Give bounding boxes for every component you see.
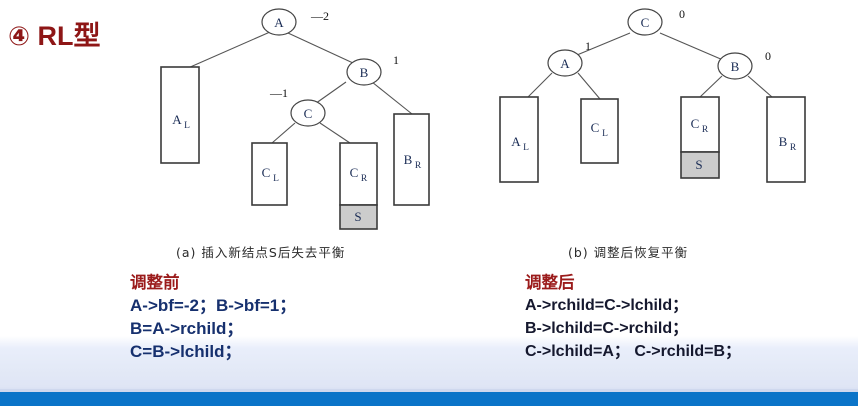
subtree-sub-AL-b: L bbox=[523, 143, 529, 153]
figure-b-caption: (b) 调整后恢复平衡 bbox=[568, 242, 688, 261]
code-after-line-3: C->lchild=A； C->rchild=B； bbox=[525, 340, 741, 363]
subtree-sub-CL-b: L bbox=[602, 129, 608, 139]
bottom-accent-bar bbox=[0, 392, 858, 406]
subtree-label-AL-b: A bbox=[511, 134, 521, 149]
subtree-label-CL-b: C bbox=[591, 120, 600, 135]
node-label-C-a: C bbox=[304, 106, 313, 121]
inserted-node-label-S-b: S bbox=[695, 157, 702, 172]
bf-label-A-a: —2 bbox=[310, 9, 329, 23]
code-before-line-1: A->bf=-2；B->bf=1； bbox=[130, 294, 296, 317]
inserted-node-label-S-a: S bbox=[354, 209, 361, 224]
bf-label-A-b: 1 bbox=[585, 39, 591, 53]
code-after-line-2: B->lchild=C->rchild； bbox=[525, 317, 741, 340]
node-label-C-b: C bbox=[641, 15, 650, 30]
code-after-heading: 调整后 bbox=[525, 274, 741, 293]
bf-label-B-b: 0 bbox=[765, 49, 771, 63]
subtree-box-CL-b bbox=[581, 99, 618, 163]
bf-label-C-b: 0 bbox=[679, 7, 685, 21]
code-after-line-1: A->rchild=C->lchild； bbox=[525, 294, 741, 317]
bf-label-C-a: —1 bbox=[269, 86, 288, 100]
subtree-sub-CR-b: R bbox=[702, 125, 709, 135]
code-block-after: 调整后 A->rchild=C->lchild； B->lchild=C->rc… bbox=[525, 274, 741, 363]
node-label-B-a: B bbox=[360, 65, 369, 80]
figure-a-tree: A L C L C R S B R A —2 B 1 C —1 bbox=[161, 9, 429, 229]
node-label-B-b: B bbox=[731, 59, 740, 74]
node-label-A-b: A bbox=[560, 56, 570, 71]
code-block-before: 调整前 A->bf=-2；B->bf=1； B=A->rchild； C=B->… bbox=[130, 274, 296, 363]
code-before-line-3: C=B->lchild； bbox=[130, 340, 296, 363]
subtree-label-BR: B bbox=[404, 152, 413, 167]
subtree-box-CR-b bbox=[681, 97, 719, 152]
slide-root: ④ RL型 .edge{stroke:#555;stroke-width:1.1… bbox=[0, 0, 858, 406]
figure-a-caption: (a) 插入新结点S后失去平衡 bbox=[176, 242, 345, 261]
subtree-sub-CR: R bbox=[361, 174, 368, 184]
subtree-sub-CL: L bbox=[273, 174, 279, 184]
subtree-label-BR-b: B bbox=[779, 134, 788, 149]
subtree-sub-BR-b: R bbox=[790, 143, 797, 153]
code-before-heading: 调整前 bbox=[130, 274, 296, 293]
subtree-label-AL: A bbox=[172, 112, 182, 127]
subtree-label-CL: C bbox=[262, 165, 271, 180]
avl-rl-diagram: .edge{stroke:#555;stroke-width:1.1;fill:… bbox=[0, 0, 858, 270]
subtree-sub-AL: L bbox=[184, 121, 190, 131]
subtree-box-CR bbox=[340, 143, 377, 205]
figure-b-tree: A L C L C R S B R C 0 A 1 B 0 bbox=[500, 7, 805, 182]
bf-label-B-a: 1 bbox=[393, 53, 399, 67]
subtree-sub-BR: R bbox=[415, 161, 422, 171]
subtree-label-CR: C bbox=[350, 165, 359, 180]
node-label-A-a: A bbox=[274, 15, 284, 30]
code-before-line-2: B=A->rchild； bbox=[130, 317, 296, 340]
subtree-label-CR-b: C bbox=[691, 116, 700, 131]
